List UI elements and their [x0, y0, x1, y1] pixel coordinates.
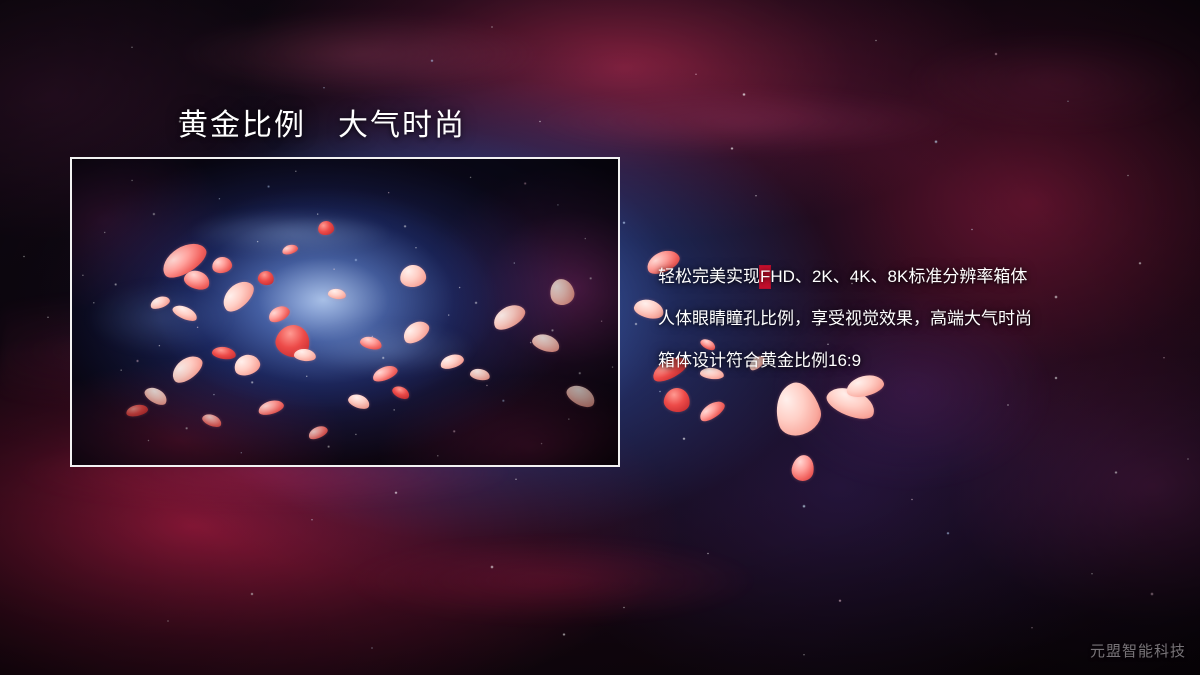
body-line-1-before: 轻松完美实现 — [658, 267, 760, 286]
text-cursor-highlight: F — [760, 266, 770, 288]
body-line-2: 人体眼睛瞳孔比例，享受视觉效果，高端大气时尚 — [658, 298, 1178, 340]
body-line-1-after: HD、2K、4K、8K标准分辨率箱体 — [770, 267, 1027, 286]
page-title: 黄金比例 大气时尚 — [178, 100, 466, 144]
body-line-3: 箱体设计符合黄金比例16:9 — [658, 340, 1178, 382]
body-line-1: 轻松完美实现FHD、2K、4K、8K标准分辨率箱体 — [658, 256, 1178, 298]
presentation-slide: 黄金比例 大气时尚 轻松完美实现FHD、2K、4K、8K标准分辨率箱体 人体眼睛… — [0, 0, 1200, 675]
body-copy-block: 轻松完美实现FHD、2K、4K、8K标准分辨率箱体 人体眼睛瞳孔比例，享受视觉效… — [658, 256, 1178, 382]
watermark: 元盟智能科技 — [1090, 640, 1186, 661]
panel-vignette — [72, 159, 618, 465]
display-preview-panel[interactable] — [70, 157, 620, 467]
